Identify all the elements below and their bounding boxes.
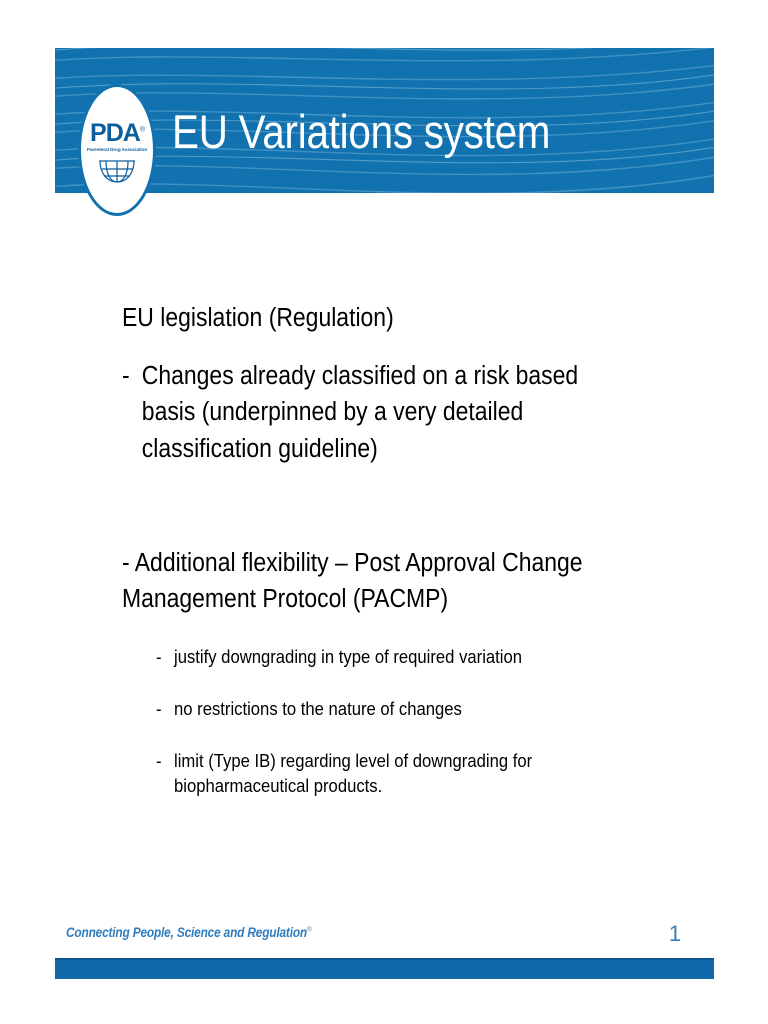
page-number: 1 <box>660 921 690 947</box>
slide-canvas: EU Variations system PDA® Parenteral Dru… <box>0 0 768 1024</box>
page-title: EU Variations system <box>172 108 636 155</box>
list-item: - limit (Type IB) regarding level of dow… <box>156 749 579 799</box>
list-item: - no restrictions to the nature of chang… <box>156 697 579 722</box>
sub-bullet-dash-marker: - <box>156 697 162 722</box>
second-block-paragraph: - Additional flexibility – Post Approval… <box>122 545 599 617</box>
logo-registered-icon: ® <box>140 126 144 133</box>
slide-body: EU legislation (Regulation) - Changes al… <box>0 300 768 799</box>
bullet-text: Changes already classified on a risk bas… <box>142 362 578 462</box>
sub-bullet-text: justify downgrading in type of required … <box>174 646 522 667</box>
footer-bar <box>55 958 714 979</box>
intro-paragraph: EU legislation (Regulation) <box>122 300 599 336</box>
logo-content: PDA® Parenteral Drug Association <box>78 84 156 216</box>
sub-bullet-list: - justify downgrading in type of require… <box>156 645 579 799</box>
footer-tagline: Connecting People, Science and Regulatio… <box>66 925 311 940</box>
footer-tagline-text: Connecting People, Science and Regulatio… <box>66 925 307 940</box>
bullet-item: - Changes already classified on a risk b… <box>122 358 599 467</box>
block-spacer <box>122 467 599 545</box>
list-item: - justify downgrading in type of require… <box>156 645 579 670</box>
globe-icon <box>97 155 137 183</box>
logo-wordmark: PDA® <box>90 121 144 146</box>
bullet-dash-marker: - <box>122 358 130 394</box>
body-level1: EU legislation (Regulation) - Changes al… <box>122 300 599 617</box>
sub-bullet-text: no restrictions to the nature of changes <box>174 698 462 719</box>
pda-logo: PDA® Parenteral Drug Association <box>78 84 156 216</box>
logo-wordmark-text: PDA <box>90 119 140 147</box>
logo-tagline: Parenteral Drug Association <box>87 148 147 153</box>
sub-bullet-dash-marker: - <box>156 749 162 774</box>
sub-bullet-text: limit (Type IB) regarding level of downg… <box>174 750 532 796</box>
sub-bullet-dash-marker: - <box>156 645 162 670</box>
footer-registered-icon: ® <box>307 927 311 934</box>
